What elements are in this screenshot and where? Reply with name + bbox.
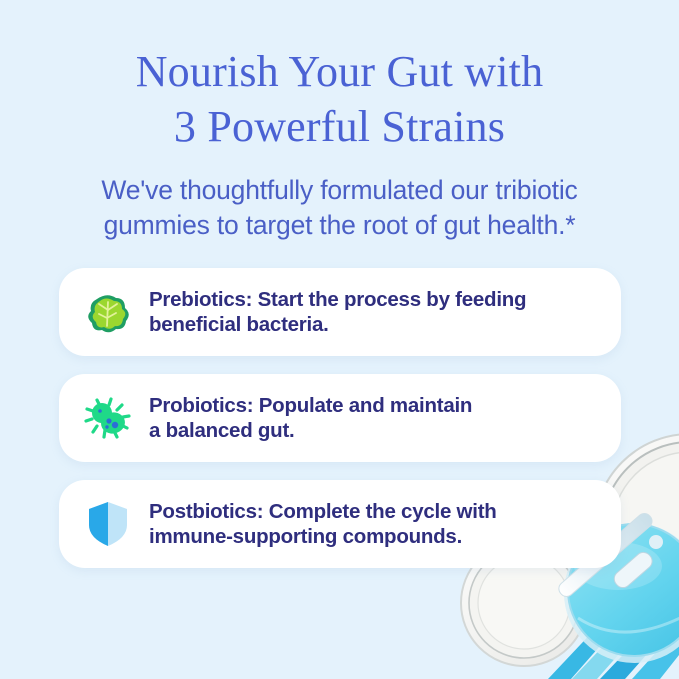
benefit-card-prebiotics[interactable]: Prebiotics: Start the process by feeding… <box>59 268 621 356</box>
page-content: Nourish Your Gut with 3 Powerful Strains… <box>0 0 679 679</box>
benefit-card-postbiotics[interactable]: Postbiotics: Complete the cycle with imm… <box>59 480 621 568</box>
leafy-green-icon <box>81 285 135 339</box>
benefit-card-probiotics-text: Probiotics: Populate and maintain a bala… <box>149 393 472 443</box>
benefit-card-probiotics[interactable]: Probiotics: Populate and maintain a bala… <box>59 374 621 462</box>
benefit-card-prebiotics-line-2: beneficial bacteria. <box>149 312 526 337</box>
page-subtitle-line-2: gummies to target the root of gut health… <box>36 208 643 243</box>
shield-icon <box>81 497 135 551</box>
page-title-line-1: Nourish Your Gut with <box>40 44 639 99</box>
benefit-card-probiotics-line-1: Probiotics: Populate and maintain <box>149 393 472 418</box>
page-subtitle: We've thoughtfully formulated our tribio… <box>0 155 679 243</box>
page-title-line-2: 3 Powerful Strains <box>40 99 639 154</box>
benefit-card-postbiotics-text: Postbiotics: Complete the cycle with imm… <box>149 499 497 549</box>
page-subtitle-line-1: We've thoughtfully formulated our tribio… <box>36 173 643 208</box>
benefit-card-prebiotics-line-1: Prebiotics: Start the process by feeding <box>149 287 526 312</box>
benefit-card-prebiotics-text: Prebiotics: Start the process by feeding… <box>149 287 526 337</box>
benefit-card-postbiotics-line-1: Postbiotics: Complete the cycle with <box>149 499 497 524</box>
microbe-icon <box>81 391 135 445</box>
benefit-card-postbiotics-line-2: immune-supporting compounds. <box>149 524 497 549</box>
page-title: Nourish Your Gut with 3 Powerful Strains <box>0 0 679 155</box>
benefit-card-probiotics-line-2: a balanced gut. <box>149 418 472 443</box>
benefit-card-list: Prebiotics: Start the process by feeding… <box>59 268 621 568</box>
